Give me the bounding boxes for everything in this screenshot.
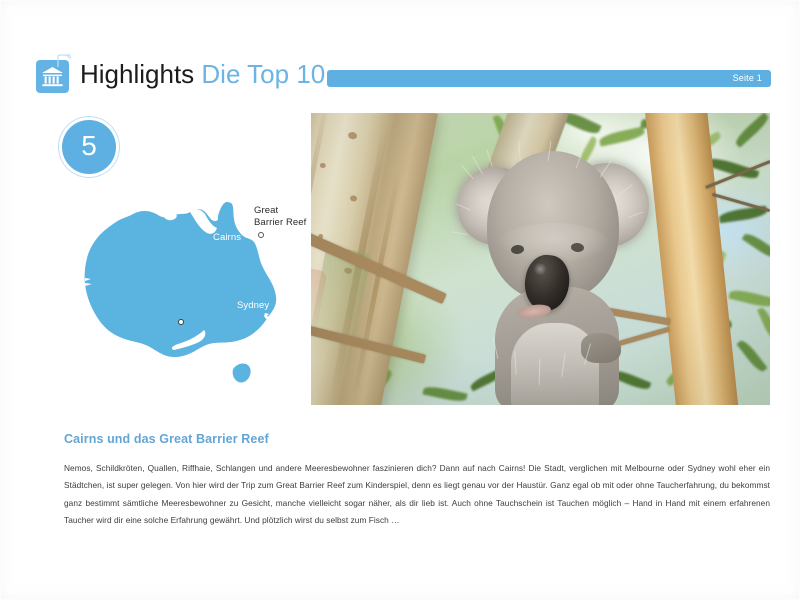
header-accent-bar: Seite 1 (327, 70, 771, 87)
photo-vignette (311, 113, 770, 405)
section-body-text: Nemos, Schildkröten, Quallen, Riffhaie, … (64, 460, 770, 530)
rank-badge: 5 (62, 120, 116, 174)
page-title: Highlights Die Top 10 (80, 58, 325, 90)
map-label-great-barrier-reef: Great Barrier Reef (254, 205, 306, 228)
map-label-sydney: Sydney (237, 300, 269, 312)
section-subheading: Cairns und das Great Barrier Reef (64, 431, 269, 447)
map-label-cairns: Cairns (213, 232, 241, 244)
map-label-gbr-line2: Barrier Reef (254, 217, 306, 229)
page-header: Highlights Die Top 10 Seite 1 (0, 0, 800, 112)
australia-map: Great Barrier Reef Cairns Sydney (58, 190, 313, 395)
museum-building-icon (36, 60, 69, 93)
rank-badge-number: 5 (62, 120, 116, 174)
page-title-sub: Die Top 10 (201, 59, 325, 89)
page-number-label: Seite 1 (733, 71, 762, 86)
page-canvas: Highlights Die Top 10 Seite 1 5 (0, 0, 800, 600)
koala-in-eucalyptus-tree-photo (311, 113, 770, 405)
page-title-main: Highlights (80, 59, 194, 89)
great-barrier-reef-marker (258, 232, 264, 238)
cairns-marker (178, 319, 184, 325)
map-label-gbr-line1: Great (254, 205, 306, 217)
